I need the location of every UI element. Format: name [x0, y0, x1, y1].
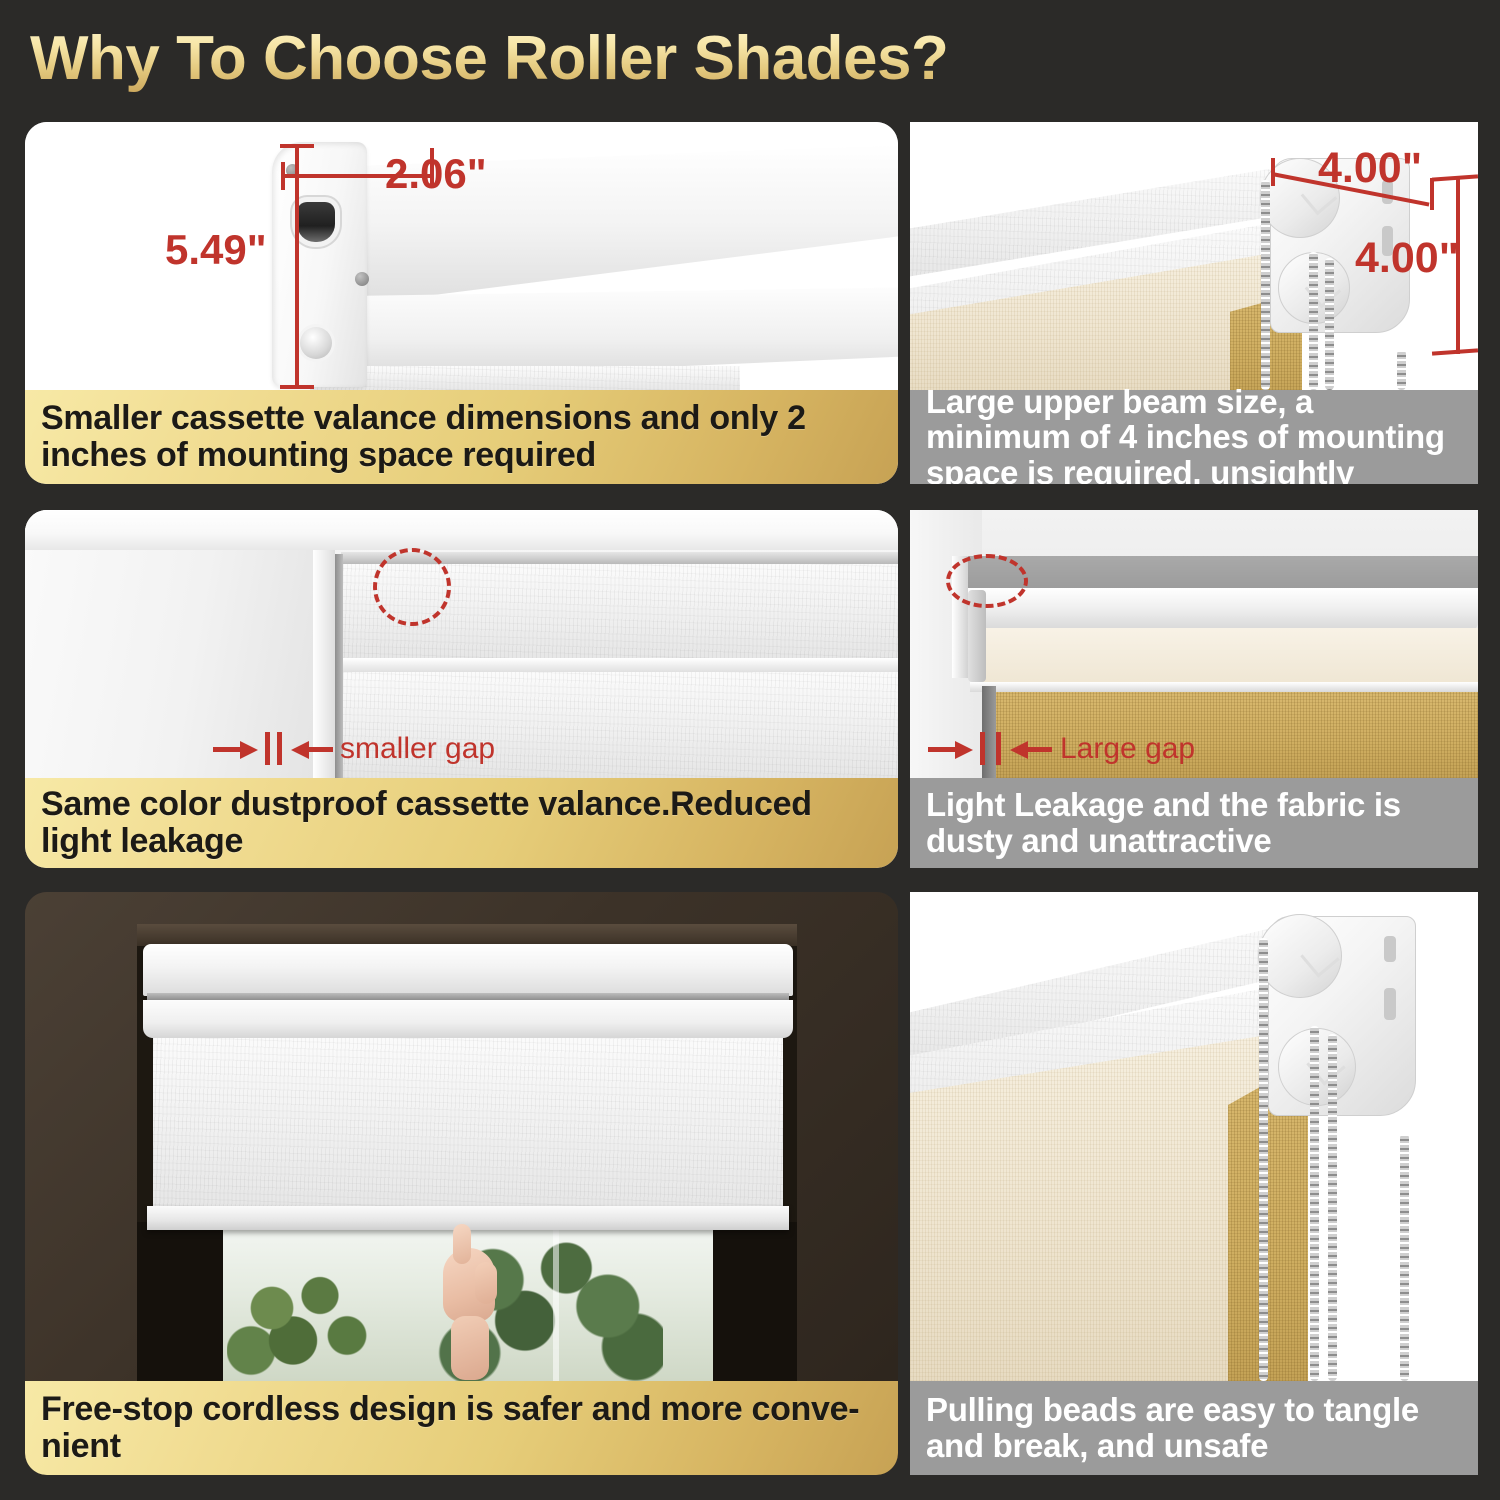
hand-wrist	[451, 1316, 489, 1380]
window-mullion	[553, 1222, 559, 1381]
fabric-bottom-edge	[970, 682, 1478, 692]
tree-left	[227, 1258, 377, 1381]
height-dim-cap-bottom	[280, 385, 314, 389]
bead-chain-long-2	[1310, 1026, 1319, 1381]
panel-top-right: 4.00" 4.00" Large upper beam size, a min…	[910, 122, 1478, 484]
caption-mid-right-text: Light Leakage and the fabric is dusty an…	[926, 787, 1462, 858]
beam-width-label: 4.00"	[1318, 144, 1422, 193]
gap-arrow-tail-left	[213, 747, 241, 752]
gap-tick-2	[277, 732, 282, 765]
caption-top-left-text: Smaller cassette valance dimensions and …	[41, 400, 882, 473]
panel-top-left: 2.06" 5.49" Smaller cassette valance dim…	[25, 122, 898, 484]
photo-cassette-valance: 2.06" 5.49"	[25, 122, 898, 390]
height-dim-line	[295, 146, 299, 389]
page-title: Why To Choose Roller Shades?	[30, 20, 1130, 98]
bracket-slot-lower-b	[1384, 988, 1396, 1020]
beam-width-cap-right	[1430, 178, 1434, 210]
caption-mid-left: Same color dustproof cassette valance.Re…	[25, 778, 898, 868]
bead-chain-long-4	[1400, 1134, 1409, 1381]
cassette-valance	[143, 944, 793, 996]
bead-chain-3	[1325, 258, 1334, 390]
photo-bead-chains	[910, 892, 1478, 1381]
hand-thumb	[475, 1262, 497, 1304]
lgap-arrow-right-head	[955, 741, 973, 759]
window-soffit	[137, 924, 797, 946]
gap-label-smaller: smaller gap	[340, 732, 495, 766]
fabric-cream-band	[982, 628, 1478, 686]
lgap-arrow-tail-right	[1027, 747, 1052, 752]
beam-height-label: 4.00"	[1355, 234, 1459, 283]
upper-beam-roller	[954, 588, 1478, 632]
gap-arrow-right-head	[240, 741, 258, 759]
panel-bottom-right: Pulling beads are easy to tangle and bre…	[910, 892, 1478, 1475]
highlight-circle-large-gap	[946, 554, 1028, 608]
cassette-lower-lip	[143, 1000, 793, 1038]
gap-arrow-left-head	[291, 741, 309, 759]
hand-finger	[453, 1224, 471, 1264]
photo-cordless-window	[25, 892, 898, 1381]
width-dim-cap-left	[281, 162, 285, 190]
bead-chain-2	[1309, 252, 1318, 390]
valance-screw-mid	[355, 272, 369, 286]
panel-mid-left: smaller gap Same color dustproof cassett…	[25, 510, 898, 868]
cassette-groove	[147, 993, 789, 1000]
caption-bottom-left-line2: nient	[41, 1428, 121, 1465]
cassette-front-lip	[341, 658, 898, 672]
gap-label-large: Large gap	[1060, 732, 1195, 766]
photo-small-gap: smaller gap	[25, 510, 898, 778]
caption-bottom-left-line1: Free-stop cordless design is safer and m…	[41, 1391, 859, 1428]
lgap-tick-1	[980, 732, 985, 765]
window-frame-top	[25, 510, 898, 550]
lgap-tick-2	[996, 732, 1001, 765]
caption-top-right-text: Large upper beam size, a minimum of 4 in…	[926, 384, 1462, 484]
bead-chain-long-1	[1259, 938, 1268, 1381]
caption-top-left: Smaller cassette valance dimensions and …	[25, 390, 898, 484]
caption-mid-left-text: Same color dustproof cassette valance.Re…	[41, 786, 882, 859]
bead-chain-1	[1261, 180, 1270, 390]
lgap-arrow-left-head	[1010, 741, 1028, 759]
photo-large-beam: 4.00" 4.00"	[910, 122, 1478, 390]
highlight-circle-small-gap	[373, 548, 451, 626]
panel-mid-right: Large gap Light Leakage and the fabric i…	[910, 510, 1478, 868]
lgap-arrow-tail-left	[928, 747, 956, 752]
valance-mechanism-slot	[297, 202, 335, 242]
caption-top-right: Large upper beam size, a minimum of 4 in…	[910, 390, 1478, 484]
hand-pulling-rail	[435, 1224, 507, 1380]
bracket-slot-upper-b	[1384, 936, 1396, 962]
caption-bottom-right-text: Pulling beads are easy to tangle and bre…	[926, 1392, 1462, 1463]
width-dimension-label: 2.06"	[385, 150, 487, 198]
bead-chain-long-3	[1328, 1034, 1337, 1381]
caption-mid-right: Light Leakage and the fabric is dusty an…	[910, 778, 1478, 868]
beam-height-cap-top	[1432, 174, 1478, 181]
shade-fabric	[310, 366, 740, 390]
gap-tick-1	[265, 732, 270, 765]
beam-width-cap-left	[1271, 158, 1275, 186]
window-jamb-right	[713, 1222, 797, 1381]
gap-arrow-tail-right	[308, 747, 333, 752]
photo-large-gap: Large gap	[910, 510, 1478, 778]
valance-bottom-pin	[300, 327, 332, 359]
beam-height-cap-bottom	[1432, 348, 1478, 355]
cordless-shade-fabric	[153, 1038, 783, 1212]
panel-bottom-left: Free-stop cordless design is safer and m…	[25, 892, 898, 1475]
window-jamb-left	[137, 1222, 223, 1381]
height-dimension-label: 5.49"	[165, 226, 267, 274]
window-frame-bevel	[313, 510, 335, 778]
infographic-root: Why To Choose Roller Shades? 2.06	[0, 0, 1500, 1500]
caption-bottom-left: Free-stop cordless design is safer and m…	[25, 1381, 898, 1475]
caption-bottom-right: Pulling beads are easy to tangle and bre…	[910, 1381, 1478, 1475]
height-dim-cap-top	[280, 144, 314, 148]
